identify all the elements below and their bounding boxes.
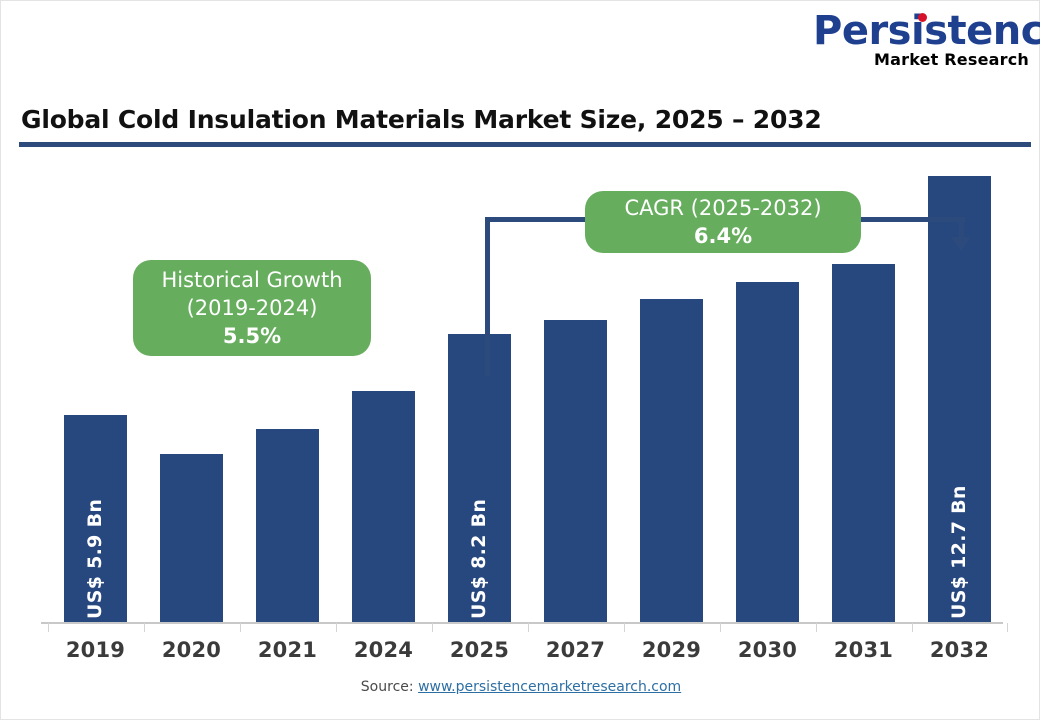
bar-2020: [160, 454, 223, 623]
x-tick-2024: [336, 623, 337, 632]
x-tick-2025: [432, 623, 433, 632]
x-tick-2020: [144, 623, 145, 632]
cagr-callout: CAGR (2025-2032) 6.4%: [585, 191, 861, 253]
bar-2024: [352, 391, 415, 623]
bar-value-label-2032: US$ 12.7 Bn: [948, 485, 970, 619]
x-tick-2021: [240, 623, 241, 632]
historical-growth-value: 5.5%: [223, 322, 281, 350]
cagr-connector-vertical: [485, 219, 490, 376]
x-tick-2027: [528, 623, 529, 632]
bar-2021: [256, 429, 319, 623]
x-tick-2032: [912, 623, 913, 632]
x-axis-label-2030: 2030: [720, 638, 816, 662]
historical-growth-line2: (2019-2024): [187, 294, 318, 322]
source-caption: Source: www.persistencemarketresearch.co…: [1, 679, 1040, 695]
historical-growth-callout: Historical Growth (2019-2024) 5.5%: [133, 260, 371, 356]
x-axis-label-2032: 2032: [912, 638, 1008, 662]
x-axis-label-2021: 2021: [240, 638, 336, 662]
x-tick-2030: [720, 623, 721, 632]
bar-2031: [832, 264, 895, 623]
bar-2030: [736, 282, 799, 623]
bar-2027: [544, 320, 607, 623]
plot-area: US$ 5.9 BnUS$ 8.2 BnUS$ 12.7 Bn 20192020…: [1, 1, 1040, 721]
chart-figure: Persistence Market Research Global Cold …: [0, 0, 1040, 720]
bar-2029: [640, 299, 703, 623]
x-axis-label-2031: 2031: [816, 638, 912, 662]
x-axis-label-2019: 2019: [48, 638, 144, 662]
bar-value-label-2025: US$ 8.2 Bn: [468, 499, 490, 619]
x-axis-label-2020: 2020: [144, 638, 240, 662]
x-tick-2029: [624, 623, 625, 632]
cagr-line1: CAGR (2025-2032): [624, 194, 821, 222]
bar-value-label-2019: US$ 5.9 Bn: [84, 499, 106, 619]
cagr-arrow-icon: [951, 237, 971, 251]
x-axis-label-2024: 2024: [336, 638, 432, 662]
x-axis-line: [41, 622, 1003, 624]
x-axis-label-2027: 2027: [528, 638, 624, 662]
x-tick-2019: [48, 623, 49, 632]
source-prefix: Source:: [361, 679, 418, 695]
x-axis-label-2029: 2029: [624, 638, 720, 662]
cagr-value: 6.4%: [694, 222, 752, 250]
x-axis-label-2025: 2025: [432, 638, 528, 662]
x-tick-2031: [816, 623, 817, 632]
source-link[interactable]: www.persistencemarketresearch.com: [418, 679, 681, 695]
x-tick-end: [1007, 623, 1008, 632]
historical-growth-line1: Historical Growth: [161, 266, 342, 294]
